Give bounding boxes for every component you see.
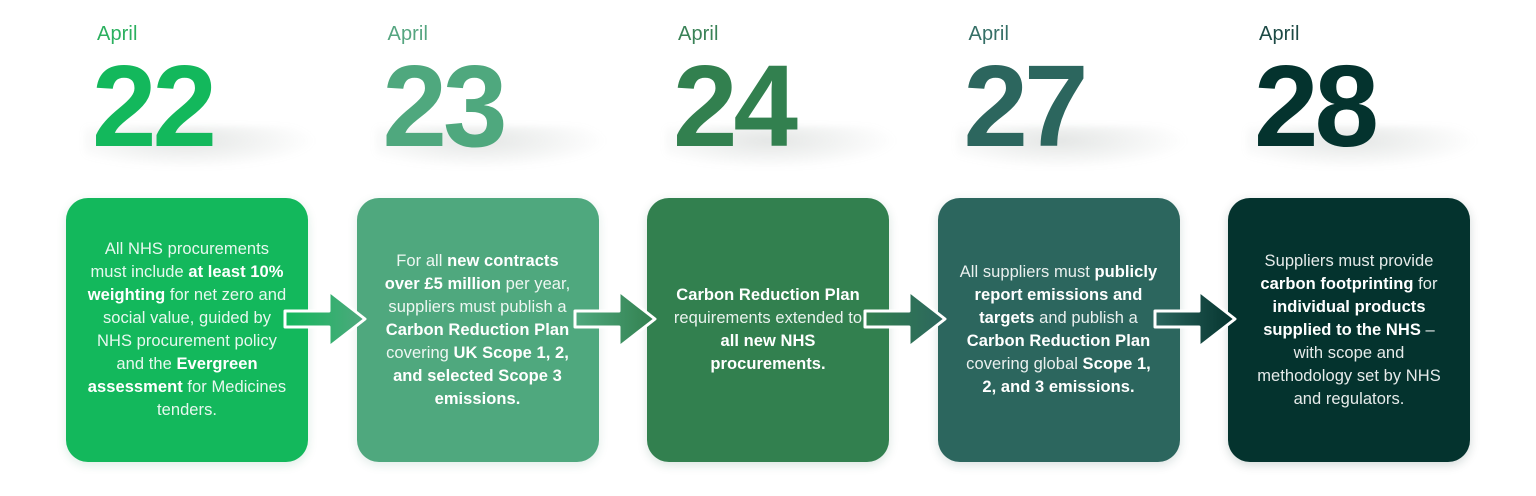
day-number: 27 <box>964 48 1085 164</box>
milestone-card-4: All suppliers must publicly report emiss… <box>938 198 1180 462</box>
milestone-card-3: Carbon Reduction Plan requirements exten… <box>647 198 889 462</box>
timeline-track: April22All NHS procurements must include… <box>66 0 1470 496</box>
milestone-card-2: For all new contracts over £5 million pe… <box>357 198 599 462</box>
day-number: 22 <box>92 48 213 164</box>
timeline-step-3: April24Carbon Reduction Plan requirement… <box>647 0 889 496</box>
timeline-step-1: April22All NHS procurements must include… <box>66 0 308 496</box>
milestone-card-text: All suppliers must publicly report emiss… <box>958 261 1160 399</box>
day-number: 24 <box>673 48 794 164</box>
date-block-5: April28 <box>1228 0 1470 198</box>
milestone-card-5: Suppliers must provide carbon footprinti… <box>1228 198 1470 462</box>
milestone-card-1: All NHS procurements must include at lea… <box>66 198 308 462</box>
day-number: 23 <box>383 48 504 164</box>
timeline-step-5: April28Suppliers must provide carbon foo… <box>1228 0 1470 496</box>
timeline-step-2: April23For all new contracts over £5 mil… <box>357 0 599 496</box>
date-block-2: April23 <box>357 0 599 198</box>
date-block-3: April24 <box>647 0 889 198</box>
timeline-infographic: April22All NHS procurements must include… <box>0 0 1536 496</box>
milestone-card-text: For all new contracts over £5 million pe… <box>377 250 579 411</box>
milestone-card-text: Suppliers must provide carbon footprinti… <box>1248 250 1450 411</box>
milestone-card-text: All NHS procurements must include at lea… <box>86 238 288 422</box>
day-number: 28 <box>1254 48 1375 164</box>
milestone-card-text: Carbon Reduction Plan requirements exten… <box>667 284 869 376</box>
date-block-1: April22 <box>66 0 308 198</box>
date-block-4: April27 <box>938 0 1180 198</box>
timeline-step-4: April27All suppliers must publicly repor… <box>938 0 1180 496</box>
